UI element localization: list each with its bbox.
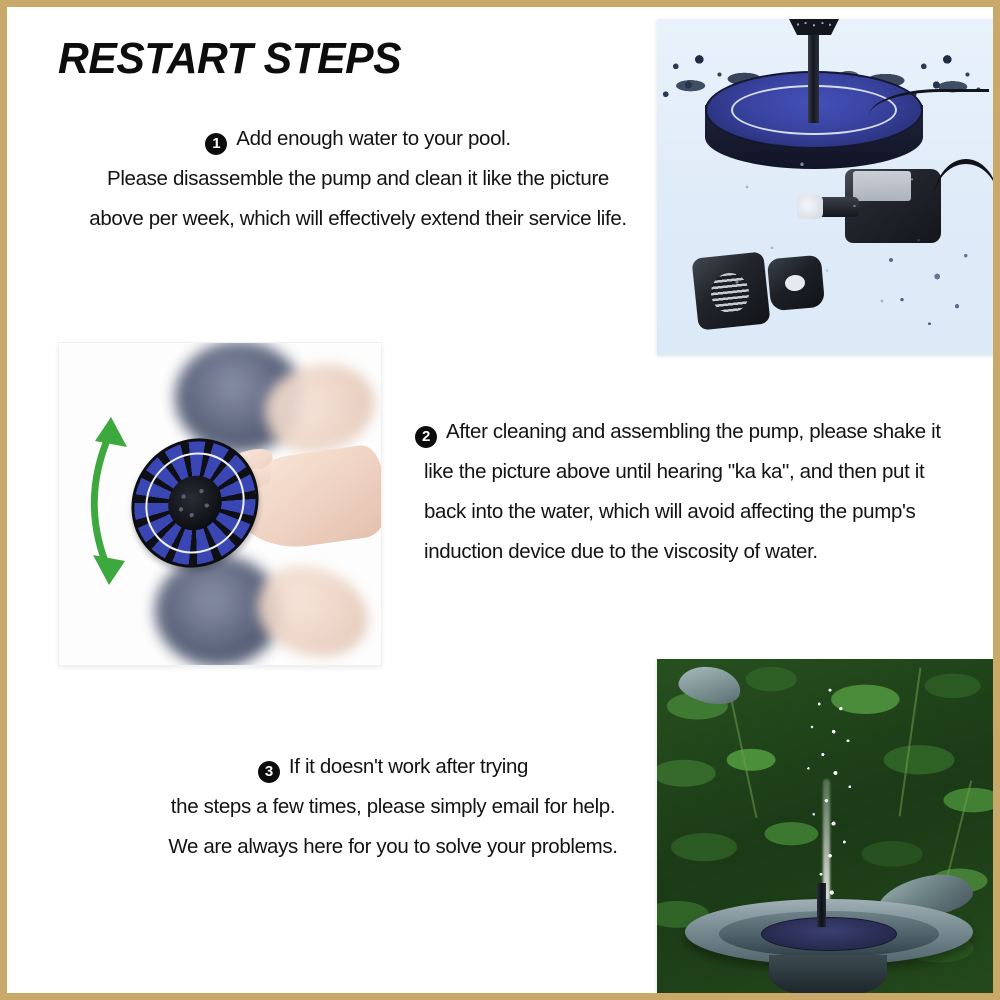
motion-blur-hand-bottom [247,555,378,665]
step-3-line-1: If it doesn't work after trying [289,755,528,778]
floating-solar-disc-in-basin [761,917,897,951]
step-3-line-2: the steps a few times, please simply ema… [147,787,639,827]
step-3-line-3: We are always here for you to solve your… [147,827,639,867]
step-1-badge: 1 [205,133,227,155]
infographic-page: RESTART STEPS [0,0,1000,1000]
fountain-nozzle-stem [817,883,826,927]
fountain-water-jet [785,681,875,911]
hand-shaking-solar-panel-photo [59,343,381,665]
page-inner: RESTART STEPS [7,7,993,993]
step-3-badge: 3 [258,761,280,783]
birdbath-fountain-in-garden-photo [657,659,993,995]
step-1-line-1: Add enough water to your pool. [236,127,510,150]
step-1-line-2: Please disassemble the pump and clean it… [69,159,647,199]
step-2-line-1: After cleaning and assembling the pump, … [446,420,941,443]
step-2-line-3: back into the water, which will avoid af… [415,492,859,532]
step-2-badge: 2 [415,426,437,448]
step-2-line-4: induction device due to the viscosity of… [415,532,859,572]
step-2-line-2: like the picture above until hearing "ka… [415,452,859,492]
solar-fountain-pump-disassembly-photo [657,19,993,355]
step-3-text: 3If it doesn't work after trying the ste… [147,747,639,867]
fountain-nozzle-holes [793,21,835,28]
page-title: RESTART STEPS [58,34,401,84]
birdbath-pedestal [769,955,887,995]
shake-direction-arrow-icon [81,405,155,595]
step-1-line-3: above per week, which will effectively e… [69,199,647,239]
step-2-text: 2After cleaning and assembling the pump,… [415,412,859,572]
fountain-nozzle-stem [808,27,819,123]
water-spray-particles [869,227,979,337]
step-1-text: 1Add enough water to your pool. Please d… [69,119,647,239]
